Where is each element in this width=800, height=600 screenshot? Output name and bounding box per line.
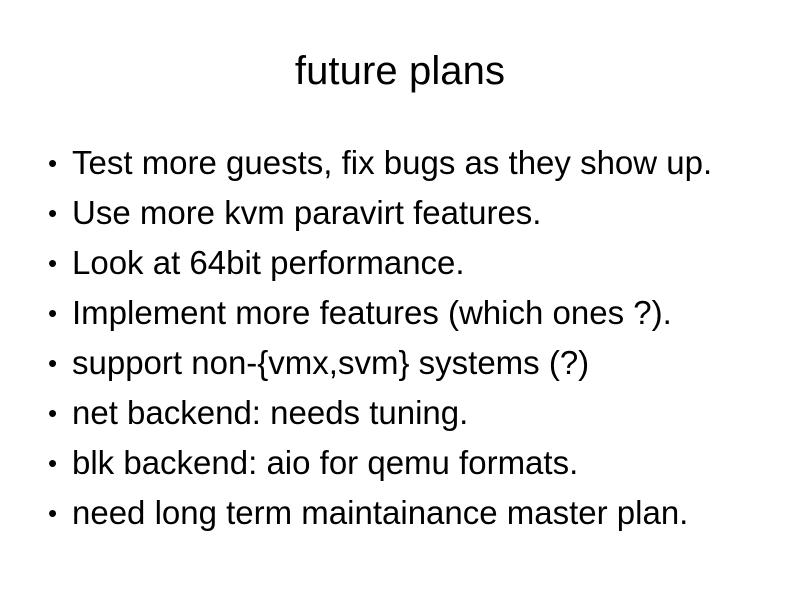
bullet-point-icon: •	[48, 238, 64, 288]
list-item-label: need long term maintainance master plan.	[72, 494, 688, 531]
list-item: • net backend: needs tuning.	[40, 388, 770, 438]
list-item: • need long term maintainance master pla…	[40, 488, 770, 538]
page-title: future plans	[0, 48, 800, 94]
bullet-point-icon: •	[48, 138, 64, 188]
list-item-label: Use more kvm paravirt features.	[72, 194, 541, 231]
list-item: • Test more guests, fix bugs as they sho…	[40, 138, 770, 188]
bullet-point-icon: •	[48, 388, 64, 438]
bullet-point-icon: •	[48, 288, 64, 338]
list-item-label: Look at 64bit performance.	[72, 244, 465, 281]
bullet-point-icon: •	[48, 188, 64, 238]
list-item-label: support non-{vmx,svm} systems (?)	[72, 344, 589, 381]
list-item-label: net backend: needs tuning.	[72, 394, 468, 431]
bullet-point-icon: •	[48, 488, 64, 538]
list-item-label: blk backend: aio for qemu formats.	[72, 444, 578, 481]
bullet-point-icon: •	[48, 338, 64, 388]
list-item-label: Test more guests, fix bugs as they show …	[72, 144, 712, 181]
presentation-slide: future plans • Test more guests, fix bug…	[0, 0, 800, 600]
list-item: • Use more kvm paravirt features.	[40, 188, 770, 238]
bullet-point-icon: •	[48, 438, 64, 488]
list-item-label: Implement more features (which ones ?).	[72, 294, 672, 331]
list-item: • Look at 64bit performance.	[40, 238, 770, 288]
bullet-list: • Test more guests, fix bugs as they sho…	[40, 138, 770, 538]
list-item: • support non-{vmx,svm} systems (?)	[40, 338, 770, 388]
list-item: • Implement more features (which ones ?)…	[40, 288, 770, 338]
list-item: • blk backend: aio for qemu formats.	[40, 438, 770, 488]
